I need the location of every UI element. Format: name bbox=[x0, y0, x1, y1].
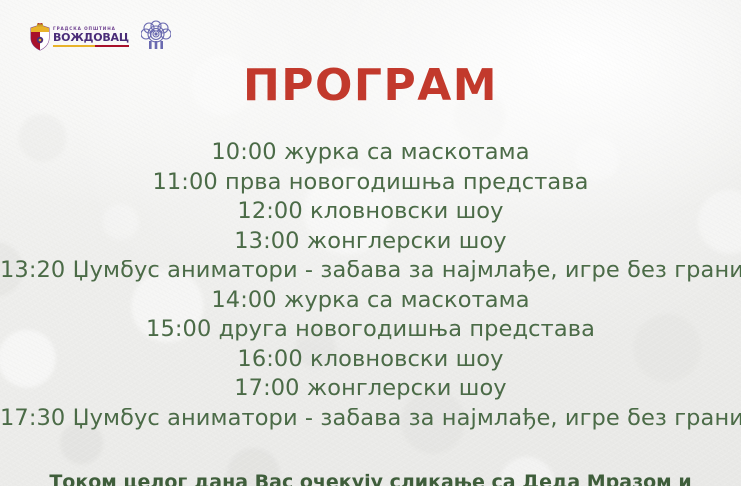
schedule-item: 16:00 кловновски шоу bbox=[0, 345, 741, 375]
coat-of-arms-icon bbox=[30, 23, 50, 51]
schedule-item: 11:00 прва новогодишња представа bbox=[0, 168, 741, 198]
page-title: ПРОГРАМ bbox=[0, 64, 741, 108]
schedule-item: 15:00 друга новогодишња представа bbox=[0, 315, 741, 345]
schedule-item: 13:20 Џумбус аниматори - забава за најмл… bbox=[0, 256, 741, 286]
schedule-item: 12:00 кловновски шоу bbox=[0, 197, 741, 227]
schedule-item: 17:30 Џумбус аниматори - забава за најмл… bbox=[0, 404, 741, 434]
vozdovac-logo: ГРАДСКА ОПШТИНА ВОЖДОВАЦ bbox=[30, 23, 129, 51]
vozdovac-wordmark: ГРАДСКА ОПШТИНА ВОЖДОВАЦ bbox=[53, 27, 129, 47]
footnote-text: Током целог дана Вас очекују сликање са … bbox=[0, 470, 741, 486]
vozdovac-underline-rule bbox=[53, 45, 129, 47]
program-poster: ГРАДСКА ОПШТИНА ВОЖДОВАЦ ПРОГРАМ bbox=[0, 0, 741, 486]
logo-bar: ГРАДСКА ОПШТИНА ВОЖДОВАЦ bbox=[30, 20, 171, 54]
schedule-item: 10:00 журка са маскотама bbox=[0, 138, 741, 168]
schedule-item: 14:00 журка са маскотама bbox=[0, 286, 741, 316]
sheep-emblem-logo bbox=[141, 20, 171, 54]
vozdovac-title: ВОЖДОВАЦ bbox=[53, 32, 129, 43]
schedule-list: 10:00 журка са маскотама 11:00 прва ново… bbox=[0, 138, 741, 433]
schedule-item: 13:00 жонглерски шоу bbox=[0, 227, 741, 257]
schedule-item: 17:00 жонглерски шоу bbox=[0, 374, 741, 404]
